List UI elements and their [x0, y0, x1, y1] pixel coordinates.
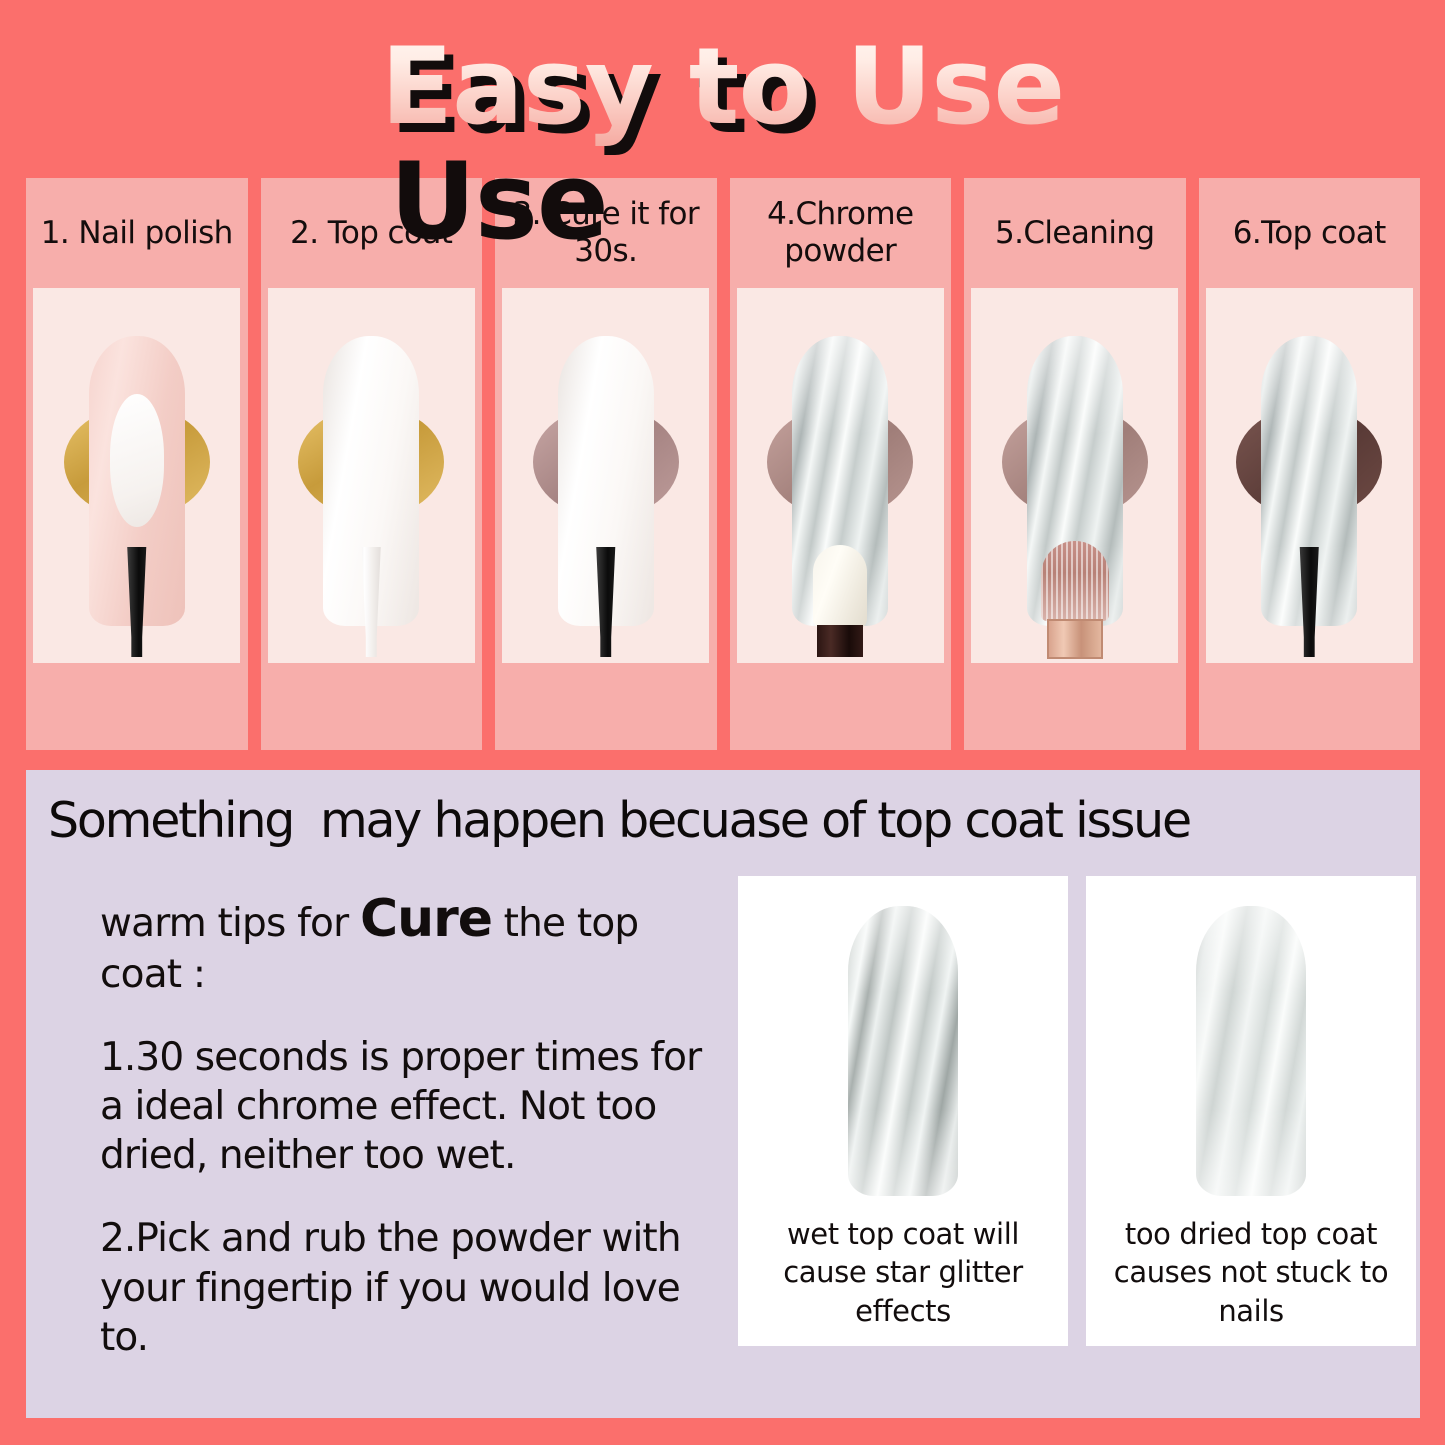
- warm-tip-item-2: 2.Pick and rub the powder with your fing…: [100, 1214, 730, 1361]
- warm-tip-item-1: 1.30 seconds is proper times for a ideal…: [100, 1033, 730, 1180]
- step-card-6: 6.Top coat: [1199, 178, 1421, 750]
- step-image-3: [502, 288, 709, 663]
- step-image-6: [1206, 288, 1413, 663]
- warm-tips-lead-before: warm tips for: [100, 901, 360, 946]
- example-card-dried: too dried top coat causes not stuck to n…: [1086, 876, 1416, 1346]
- warm-tips-lead: warm tips for Cure the top coat :: [100, 888, 730, 999]
- step-card-1: 1. Nail polish: [26, 178, 248, 750]
- step-image-4: [737, 288, 944, 663]
- chrome-nail-icon: [1196, 906, 1306, 1196]
- troubleshooting-panel: Something may happen becuase of top coat…: [26, 770, 1420, 1418]
- step-card-5: 5.Cleaning: [964, 178, 1186, 750]
- step-card-4: 4.Chrome powder: [730, 178, 952, 750]
- step-label-6: 6.Top coat: [1199, 178, 1421, 288]
- sponge-applicator-icon: [813, 545, 867, 657]
- step-image-2: [268, 288, 475, 663]
- example-cards: wet top coat will cause star glitter eff…: [738, 876, 1416, 1346]
- warm-tips-emphasis: Cure: [360, 889, 492, 949]
- page-title: Easy to Use Easy to Use: [0, 22, 1445, 152]
- step-card-3: 3. Cure it for 30s.: [495, 178, 717, 750]
- page-title-text: Easy to Use: [381, 25, 1065, 148]
- troubleshooting-heading: Something may happen becuase of top coat…: [48, 792, 1400, 849]
- step-image-1: [33, 288, 240, 663]
- example-card-caption-dried: too dried top coat causes not stuck to n…: [1098, 1215, 1404, 1330]
- warm-tips-block: warm tips for Cure the top coat : 1.30 s…: [100, 888, 730, 1362]
- fan-brush-icon: [1037, 541, 1113, 659]
- step-label-1: 1. Nail polish: [26, 178, 248, 288]
- example-card-wet: wet top coat will cause star glitter eff…: [738, 876, 1068, 1346]
- infographic-page: Easy to Use Easy to Use 1. Nail polish 2…: [0, 0, 1445, 1445]
- example-card-caption-wet: wet top coat will cause star glitter eff…: [750, 1215, 1056, 1330]
- steps-row: 1. Nail polish 2. Top coat 3. Cure it fo…: [26, 178, 1420, 750]
- step-image-5: [971, 288, 1178, 663]
- step-card-2: 2. Top coat: [261, 178, 483, 750]
- chrome-nail-icon: [848, 906, 958, 1196]
